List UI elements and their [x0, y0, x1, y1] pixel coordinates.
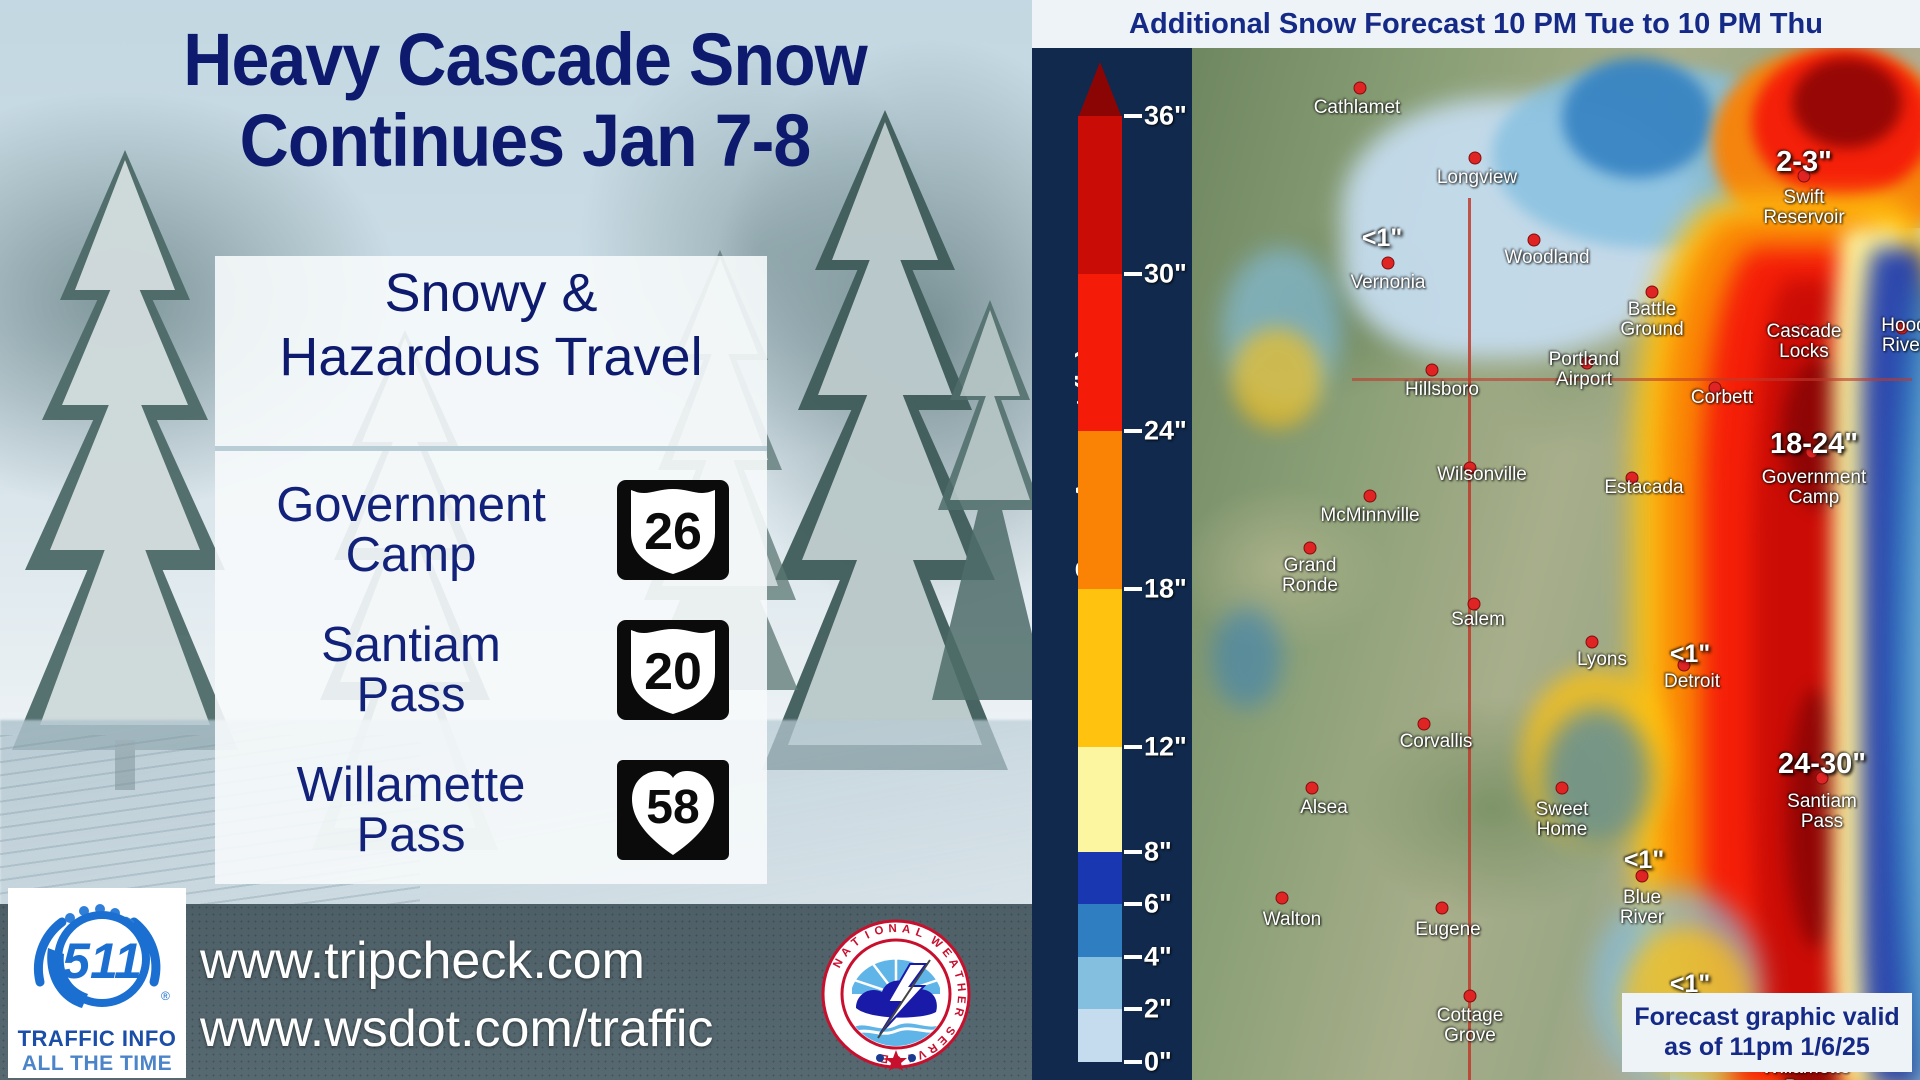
snow-amount-label: 18-24"	[1770, 428, 1858, 461]
colorbar-tick-label: 36"	[1144, 101, 1187, 132]
city-label-line: Alsea	[1300, 798, 1348, 818]
colorbar-tick	[1124, 114, 1142, 118]
city-label: Walton	[1263, 910, 1321, 930]
snow-band	[1562, 58, 1712, 178]
colorbar-tick-label: 30"	[1144, 258, 1187, 289]
city-label-line: Detroit	[1664, 672, 1720, 692]
svg-text:N: N	[888, 923, 897, 935]
colorbar-segment	[1078, 852, 1122, 905]
svg-text:E: E	[954, 995, 967, 1004]
city-marker-dot	[1528, 234, 1541, 247]
colorbar-segment	[1078, 957, 1122, 1010]
pass-row: Santiam Pass 20	[215, 600, 767, 740]
colorbar-legend: Snow Amount (in) 0"2"4"6"8"12"18"24"30"3…	[1032, 48, 1192, 1080]
city-marker-dot	[1556, 782, 1569, 795]
colorbar-gradient	[1078, 116, 1122, 1062]
city-marker-dot	[1354, 82, 1367, 95]
city-label-line: Salem	[1451, 610, 1505, 630]
headline-line-2: Continues Jan 7-8	[97, 101, 953, 182]
city-label-line: Eugene	[1415, 920, 1481, 940]
headline-line-1: Heavy Cascade Snow	[183, 18, 866, 101]
city-marker-dot	[1306, 782, 1319, 795]
city-marker-dot	[1304, 542, 1317, 555]
city-marker-dot	[1646, 286, 1659, 299]
city-label-line: Blue	[1620, 888, 1664, 908]
city-label: Hillsboro	[1405, 380, 1479, 400]
colorbar-tick-label: 24"	[1144, 416, 1187, 447]
logo-511-tagline-1: TRAFFIC INFO	[18, 1026, 177, 1052]
colorbar-segment	[1078, 431, 1122, 589]
colorbar-segment	[1078, 274, 1122, 432]
city-marker-dot	[1469, 152, 1482, 165]
city-label-line: Hillsboro	[1405, 380, 1479, 400]
forecast-validity-note: Forecast graphic valid as of 11pm 1/6/25	[1622, 993, 1912, 1072]
pass-row: Willamette Pass 58	[215, 740, 767, 880]
pass-row: Government Camp 26	[215, 460, 767, 600]
tripcheck-url[interactable]: www.tripcheck.com	[200, 927, 713, 996]
city-label: GrandRonde	[1282, 556, 1338, 596]
svg-text:H: H	[954, 982, 967, 992]
colorbar-segment	[1078, 1009, 1122, 1062]
svg-text:511: 511	[62, 933, 142, 989]
us-route-shield-26: 26	[607, 477, 739, 583]
left-info-panel: Heavy Cascade Snow Continues Jan 7-8 Sno…	[0, 0, 1032, 1080]
511-phone-icon: 511 ®	[22, 896, 172, 1026]
city-label-line: Grove	[1437, 1026, 1504, 1046]
map-title: Additional Snow Forecast 10 PM Tue to 10…	[1032, 0, 1920, 48]
interstate-5-route	[1468, 198, 1471, 1080]
city-label: PortlandAirport	[1549, 350, 1620, 390]
card-subtitle-line-2: Hazardous Travel	[215, 326, 767, 390]
city-label: SweetHome	[1536, 800, 1589, 840]
city-marker-dot	[1382, 257, 1395, 270]
city-label-line: Corbett	[1691, 388, 1753, 408]
city-label-line: Wilsonville	[1437, 465, 1527, 485]
city-label: Lyons	[1577, 650, 1627, 670]
colorbar-tick-label: 6"	[1144, 889, 1172, 920]
city-label-line: Battle	[1620, 300, 1683, 320]
colorbar-tick-label: 12"	[1144, 731, 1187, 762]
city-label-line: Grand	[1282, 556, 1338, 576]
snow-amount-label: <1"	[1624, 846, 1664, 875]
city-label-line: Woodland	[1504, 248, 1589, 268]
colorbar-tick	[1124, 955, 1142, 959]
svg-text:®: ®	[161, 989, 170, 1003]
city-label: Vernonia	[1350, 273, 1425, 293]
city-marker-dot	[1464, 990, 1477, 1003]
city-label-line: Corvallis	[1400, 732, 1473, 752]
city-label-line: Santiam	[1787, 792, 1857, 812]
city-label: CottageGrove	[1437, 1006, 1504, 1046]
city-label-line: Swift	[1763, 188, 1844, 208]
city-label-line: Government	[1762, 468, 1867, 488]
city-label: CascadeLocks	[1767, 322, 1842, 362]
city-label: SwiftReservoir	[1763, 188, 1844, 228]
colorbar-segment	[1078, 589, 1122, 747]
snow-amount-label: <1"	[1362, 224, 1402, 253]
city-label-line: Hood	[1881, 316, 1920, 336]
city-label-line: Estacada	[1604, 478, 1683, 498]
pass-name-line-2: Pass	[215, 670, 607, 720]
pass-name: Santiam Pass	[215, 620, 607, 721]
mountain-pass-list: Government Camp 26 Santiam Pass	[215, 460, 767, 880]
city-label-line: Cascade	[1767, 322, 1842, 342]
colorbar-top-arrow-icon	[1078, 62, 1122, 118]
colorbar-tick	[1124, 902, 1142, 906]
city-label: Cathlamet	[1314, 98, 1401, 118]
city-label-line: McMinnville	[1320, 506, 1419, 526]
city-marker-dot	[1426, 364, 1439, 377]
city-label: McMinnville	[1320, 506, 1419, 526]
route-number: 26	[644, 503, 702, 561]
colorbar-segment	[1078, 904, 1122, 957]
snow-forecast-map: CathlametLongviewVernoniaWoodlandBattleG…	[1192, 48, 1920, 1080]
city-label-line: Home	[1536, 820, 1589, 840]
city-label: Detroit	[1664, 672, 1720, 692]
colorbar-tick	[1124, 1007, 1142, 1011]
colorbar-tick	[1124, 850, 1142, 854]
city-label-line: Portland	[1549, 350, 1620, 370]
valid-line-1: Forecast graphic valid	[1630, 1003, 1904, 1033]
city-label-line: River	[1620, 908, 1664, 928]
city-marker-dot	[1418, 718, 1431, 731]
route-number: 20	[644, 643, 702, 701]
valid-line-2: as of 11pm 1/6/25	[1630, 1033, 1904, 1063]
city-label: HoodRiver	[1881, 316, 1920, 356]
us-route-shield-20: 20	[607, 617, 739, 723]
city-label-line: River	[1881, 336, 1920, 356]
pass-name-line-1: Willamette	[215, 760, 607, 810]
city-marker-dot	[1436, 902, 1449, 915]
city-marker-dot	[1276, 892, 1289, 905]
weather-graphic: Heavy Cascade Snow Continues Jan 7-8 Sno…	[0, 0, 1920, 1080]
route-number: 58	[646, 781, 699, 834]
snow-amount-label: 24-30"	[1778, 748, 1866, 781]
city-label-line: Sweet	[1536, 800, 1589, 820]
city-label: SantiamPass	[1787, 792, 1857, 832]
pass-name-line-2: Pass	[215, 810, 607, 860]
colorbar-tick-label: 8"	[1144, 836, 1172, 867]
pass-name: Government Camp	[215, 480, 607, 581]
city-label: Eugene	[1415, 920, 1481, 940]
snow-band	[1792, 58, 1902, 148]
colorbar-tick	[1124, 429, 1142, 433]
pass-name-line-1: Government	[215, 480, 607, 530]
city-label: Salem	[1451, 610, 1505, 630]
colorbar-tick	[1124, 745, 1142, 749]
city-label-line: Walton	[1263, 910, 1321, 930]
page-title: Heavy Cascade Snow Continues Jan 7-8	[97, 20, 953, 181]
city-label-line: Cottage	[1437, 1006, 1504, 1026]
pass-name-line-1: Santiam	[215, 620, 607, 670]
city-label: Alsea	[1300, 798, 1348, 818]
wsdot-url[interactable]: www.wsdot.com/traffic	[200, 995, 713, 1064]
colorbar-tick	[1124, 272, 1142, 276]
oregon-route-shield-58: 58	[607, 757, 739, 863]
snow-forecast-map-panel: Additional Snow Forecast 10 PM Tue to 10…	[1032, 0, 1920, 1080]
city-label-line: Ronde	[1282, 576, 1338, 596]
city-label-line: Longview	[1437, 168, 1517, 188]
city-label-line: Camp	[1762, 488, 1867, 508]
city-label-line: Airport	[1549, 370, 1620, 390]
city-label: BlueRiver	[1620, 888, 1664, 928]
city-label-line: Reservoir	[1763, 208, 1844, 228]
city-label: Wilsonville	[1437, 465, 1527, 485]
nws-logo: N A T I O N A L W E A T H E R S E	[818, 916, 974, 1072]
colorbar-tick-label: 18"	[1144, 574, 1187, 605]
colorbar-tick	[1124, 1060, 1142, 1064]
logo-511-tagline-2: ALL THE TIME	[22, 1052, 172, 1076]
card-subtitle: Snowy & Hazardous Travel	[215, 262, 767, 389]
city-label: Corvallis	[1400, 732, 1473, 752]
city-label-line: Ground	[1620, 320, 1683, 340]
city-label-line: Lyons	[1577, 650, 1627, 670]
colorbar-segment	[1078, 116, 1122, 274]
city-label-line: Cathlamet	[1314, 98, 1401, 118]
pass-name: Willamette Pass	[215, 760, 607, 861]
city-label: BattleGround	[1620, 300, 1683, 340]
snow-patch	[1232, 328, 1322, 428]
city-marker-dot	[1586, 636, 1599, 649]
footer-urls: www.tripcheck.com www.wsdot.com/traffic	[200, 927, 713, 1064]
city-label: GovernmentCamp	[1762, 468, 1867, 508]
city-label: Longview	[1437, 168, 1517, 188]
city-label-line: Pass	[1787, 812, 1857, 832]
card-divider	[215, 446, 767, 451]
colorbar-tick-label: 4"	[1144, 941, 1172, 972]
city-label-line: Locks	[1767, 342, 1842, 362]
snow-patch	[1212, 608, 1282, 708]
logo-511[interactable]: 511 ® TRAFFIC INFO ALL THE TIME	[8, 888, 186, 1078]
city-label-line: Vernonia	[1350, 273, 1425, 293]
pass-name-line-2: Camp	[215, 530, 607, 580]
colorbar-tick	[1124, 587, 1142, 591]
snow-amount-label: 2-3"	[1776, 146, 1832, 179]
city-marker-dot	[1364, 490, 1377, 503]
colorbar-segment	[1078, 747, 1122, 852]
city-label: Estacada	[1604, 478, 1683, 498]
snow-amount-label: <1"	[1670, 640, 1710, 669]
card-subtitle-line-1: Snowy &	[215, 262, 767, 326]
city-label: Woodland	[1504, 248, 1589, 268]
colorbar-tick-label: 2"	[1144, 994, 1172, 1025]
colorbar-tick-label: 0"	[1144, 1047, 1172, 1078]
city-label: Corbett	[1691, 388, 1753, 408]
